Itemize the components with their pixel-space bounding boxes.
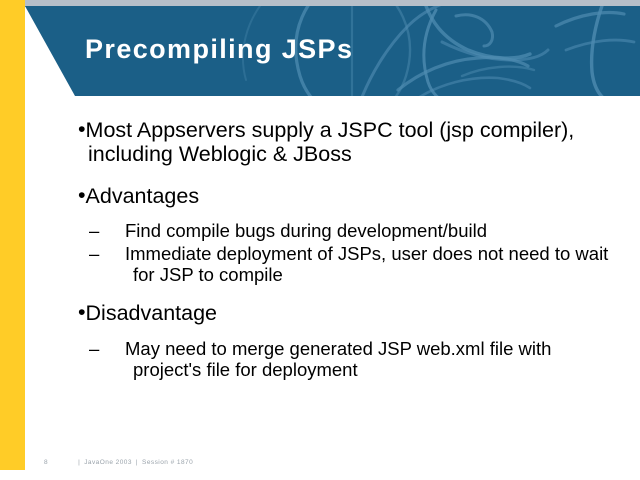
bullet-dash-icon: – xyxy=(111,220,125,241)
sub-bullet-item: –May need to merge generated JSP web.xml… xyxy=(78,338,624,380)
page-title: Precompiling JSPs xyxy=(85,36,353,63)
bullet-dash-icon: – xyxy=(111,338,125,359)
top-gray-strip xyxy=(0,0,640,7)
bullet-text: Advantages xyxy=(86,184,200,208)
sub-bullet-item: –Find compile bugs during development/bu… xyxy=(78,220,624,241)
header-banner: Precompiling JSPs xyxy=(0,6,640,96)
bullet-dot-icon: • xyxy=(78,300,86,324)
bullet-text: Disadvantage xyxy=(86,301,217,325)
footer-event: JavaOne 2003 xyxy=(84,459,132,466)
bullet-item: •Advantages xyxy=(78,184,624,208)
spacer xyxy=(78,330,624,338)
bullet-item: •Most Appservers supply a JSPC tool (jsp… xyxy=(78,118,624,166)
spacer xyxy=(78,287,624,301)
spacer xyxy=(78,212,624,220)
footer-session: Session # 1870 xyxy=(142,459,193,466)
bullet-dot-icon: • xyxy=(78,117,86,141)
sub-bullet-text: Immediate deployment of JSPs, user does … xyxy=(125,243,608,285)
slide-canvas: Precompiling JSPs •Most Appservers suppl… xyxy=(0,0,640,480)
sub-bullet-item: –Immediate deployment of JSPs, user does… xyxy=(78,243,624,285)
sub-bullet-text: Find compile bugs during development/bui… xyxy=(125,220,487,241)
spacer xyxy=(78,173,624,184)
slide-footer: 8|JavaOne 2003|Session # 1870 xyxy=(44,459,193,466)
slide-number: 8 xyxy=(44,459,74,466)
bullet-item: •Disadvantage xyxy=(78,301,624,325)
bullet-dot-icon: • xyxy=(78,183,86,207)
left-yellow-accent-bar xyxy=(0,0,25,470)
bullet-text: Most Appservers supply a JSPC tool (jsp … xyxy=(86,118,575,166)
sub-bullet-text: May need to merge generated JSP web.xml … xyxy=(125,338,551,380)
footer-separator: | xyxy=(74,459,84,466)
footer-separator: | xyxy=(132,459,142,466)
bullet-dash-icon: – xyxy=(111,243,125,264)
slide-body: •Most Appservers supply a JSPC tool (jsp… xyxy=(78,118,624,382)
